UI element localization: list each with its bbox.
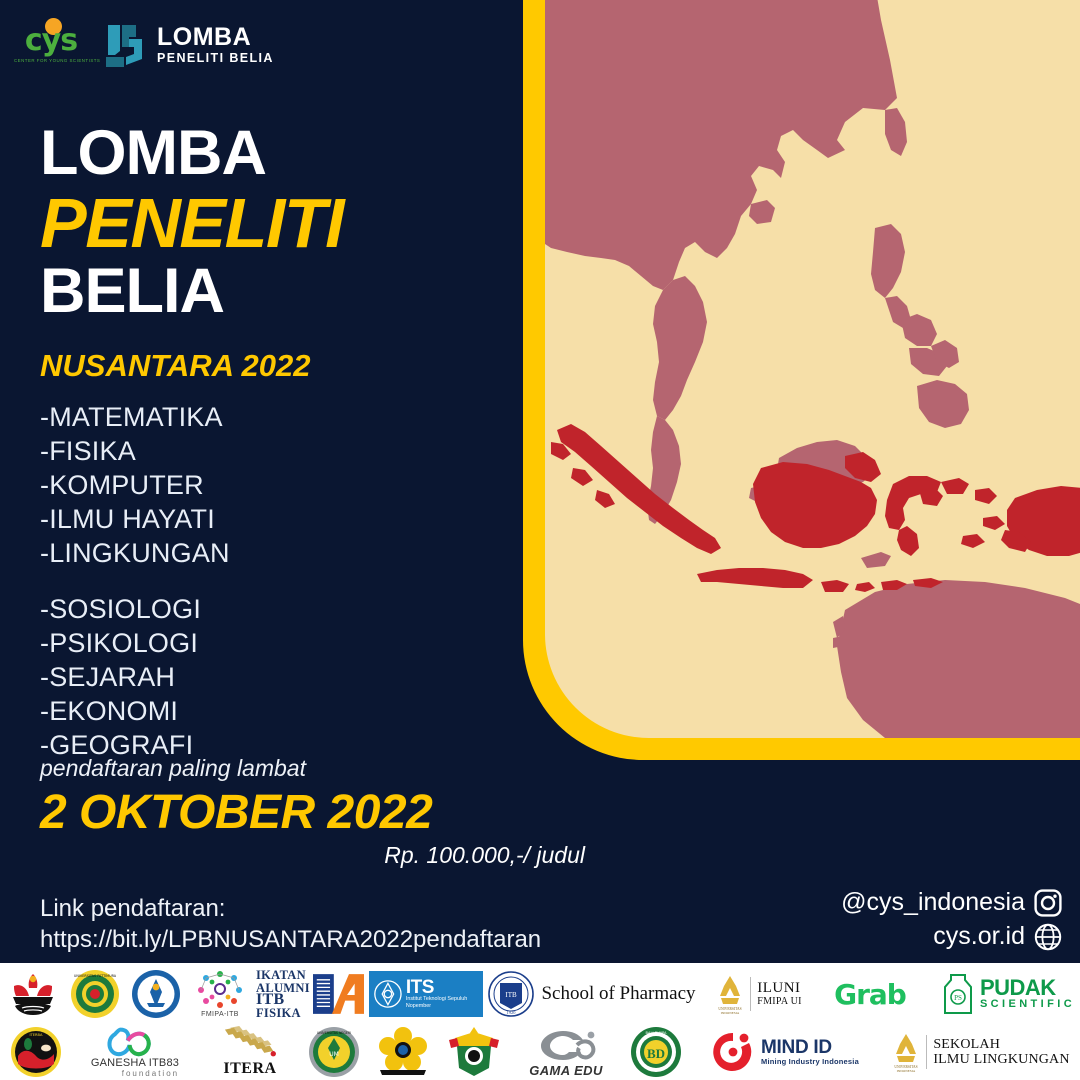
sponsor-school-of-pharmacy-label: School of Pharmacy xyxy=(541,983,695,1005)
subject-group-science: -MATEMATIKA -FISIKA -KOMPUTER -ILMU HAYA… xyxy=(40,400,230,570)
list-item: -MATEMATIKA xyxy=(40,400,230,434)
svg-text:1920: 1920 xyxy=(507,1010,517,1015)
svg-text:PS: PS xyxy=(954,994,962,1002)
registration-url[interactable]: https://bit.ly/LPBNUSANTARA2022pendaftar… xyxy=(40,924,541,955)
registration-label: Link pendaftaran: xyxy=(40,893,541,924)
page-title: LOMBA PENELITI BELIA NUSANTARA 2022 xyxy=(40,118,343,384)
sponsor-mind-id-text: MIND ID Mining Industry Indonesia xyxy=(761,1039,859,1066)
instagram-handle: @cys_indonesia xyxy=(841,888,1025,917)
instagram-icon[interactable] xyxy=(1034,889,1062,917)
map-inner xyxy=(545,0,1080,738)
registration-fee: Rp. 100.000,-/ judul xyxy=(40,842,585,869)
sponsor-its: ITS Institut Teknologi Sepuluh Nopember xyxy=(369,971,483,1017)
lpb-line-2: PENELITI BELIA xyxy=(157,52,274,65)
globe-icon[interactable] xyxy=(1034,923,1062,951)
sponsor-universitas-pattimura: UNIVERSITAS PATTIMURA xyxy=(67,968,123,1020)
list-item: -EKONOMI xyxy=(40,694,230,728)
deadline-prefix: pendaftaran paling lambat xyxy=(40,755,600,782)
list-item: -SOSIOLOGI xyxy=(40,592,230,626)
sponsor-kemdikbud xyxy=(4,968,62,1020)
left-content-column: cys CENTER FOR YOUNG SCIENTISTS LOMBA PE… xyxy=(0,0,560,1080)
sponsor-ganesha-text: GANESHA ITB83 foundation xyxy=(91,1057,179,1078)
sponsor-pudak-text: PUDAK SCIENTIFIC xyxy=(980,978,1075,1010)
brand-bar: cys CENTER FOR YOUNG SCIENTISTS LOMBA PE… xyxy=(14,18,274,72)
svg-text:ITB: ITB xyxy=(506,991,518,999)
sponsor-bali-dwipa: BD BALI DWIPA xyxy=(625,1026,687,1078)
subject-lists: -MATEMATIKA -FISIKA -KOMPUTER -ILMU HAYA… xyxy=(40,400,230,762)
sponsor-itera: ITERA xyxy=(202,1026,298,1078)
map-panel xyxy=(523,0,1080,760)
sponsor-band: UNIVERSITAS PATTIMURA xyxy=(0,963,1080,1080)
sponsor-ikatan-text: IKATANALUMNIITBFISIKA xyxy=(256,969,310,1019)
sponsor-iluni-fmipa-ui: UNIVERSITAS INDONESIA ILUNI FMIPA UI xyxy=(701,968,817,1020)
sponsor-iluni-text: ILUNI FMIPA UI xyxy=(757,981,802,1007)
svg-text:UM: UM xyxy=(329,1051,339,1058)
sponsor-gama-edu: GAMA EDU xyxy=(512,1026,620,1078)
sponsor-itera-label: ITERA xyxy=(223,1060,276,1078)
cys-tagline: CENTER FOR YOUNG SCIENTISTS xyxy=(14,58,88,63)
sponsor-sekolah-ilmu-lingkungan-ui: UNIVERSITAS INDONESIA SEKOLAH ILMU LINGK… xyxy=(883,1026,1079,1078)
sponsor-row-1: UNIVERSITAS PATTIMURA xyxy=(0,965,1080,1023)
title-line-peneliti: PENELITI xyxy=(40,184,343,262)
list-item: -ILMU HAYATI xyxy=(40,502,230,536)
poster-canvas: cys CENTER FOR YOUNG SCIENTISTS LOMBA PE… xyxy=(0,0,1080,1080)
subject-group-social: -SOSIOLOGI -PSIKOLOGI -SEJARAH -EKONOMI … xyxy=(40,592,230,762)
svg-text:ITERBA: ITERBA xyxy=(30,1033,43,1037)
list-item: -LINGKUNGAN xyxy=(40,536,230,570)
sponsor-sekolah-text: SEKOLAH ILMU LINGKUNGAN xyxy=(933,1037,1069,1067)
sponsor-universitas-negeri-yogyakarta xyxy=(370,1026,436,1078)
svg-text:INDONESIA: INDONESIA xyxy=(897,1069,916,1073)
registration-link-block: Link pendaftaran: https://bit.ly/LPBNUSA… xyxy=(40,893,541,955)
lpb-wordmark: LOMBA PENELITI BELIA xyxy=(157,25,274,65)
website-url: cys.or.id xyxy=(933,922,1025,951)
list-item: -KOMPUTER xyxy=(40,468,230,502)
cys-logo-icon: cys CENTER FOR YOUNG SCIENTISTS xyxy=(14,18,88,72)
sponsor-gama-edu-label: GAMA EDU xyxy=(529,1063,603,1078)
title-subtitle: NUSANTARA 2022 xyxy=(40,348,343,384)
sponsor-mind-id: MIND ID Mining Industry Indonesia xyxy=(692,1026,878,1078)
sponsor-ganesha-itb83-foundation: GANESHA ITB83 foundation xyxy=(73,1026,197,1078)
list-item: -SEJARAH xyxy=(40,660,230,694)
svg-text:BALI DWIPA: BALI DWIPA xyxy=(646,1031,667,1035)
cys-wordmark: cys xyxy=(14,26,88,56)
deadline-block: pendaftaran paling lambat 2 OKTOBER 2022… xyxy=(40,755,600,869)
social-block: @cys_indonesia cys.or.id xyxy=(841,888,1062,956)
title-line-lomba: LOMBA xyxy=(40,118,343,188)
sponsor-fmipa-itb: FMIPA-ITB xyxy=(189,968,251,1020)
sponsor-university-seal-blue xyxy=(128,968,184,1020)
sponsor-pudak-scientific: PS PUDAK SCIENTIFIC xyxy=(923,968,1080,1020)
sponsor-row-2: ITERBA GANESHA ITB83 foundation xyxy=(0,1023,1080,1080)
lpb-logo: LOMBA PENELITI BELIA xyxy=(102,21,274,69)
list-item: -FISIKA xyxy=(40,434,230,468)
southeast-asia-map xyxy=(545,0,1080,738)
deadline-date: 2 OKTOBER 2022 xyxy=(40,786,600,840)
sponsor-divider xyxy=(750,977,751,1011)
list-item: -PSIKOLOGI xyxy=(40,626,230,660)
instagram-row[interactable]: @cys_indonesia xyxy=(841,888,1062,917)
lpb-mark-icon xyxy=(102,21,148,69)
svg-text:UNIVERSITAS PATTIMURA: UNIVERSITAS PATTIMURA xyxy=(74,974,117,978)
sponsor-universitas-negeri-malang: UM UNIVERSITAS NEGERI xyxy=(303,1026,365,1078)
svg-text:INDONESIA: INDONESIA xyxy=(721,1011,740,1015)
subject-group-spacer xyxy=(40,570,230,592)
title-line-belia: BELIA xyxy=(40,256,343,326)
sponsor-iterba: ITERBA xyxy=(4,1026,68,1078)
sponsor-grab: Grab xyxy=(822,968,918,1020)
svg-text:UNIVERSITAS NEGERI: UNIVERSITAS NEGERI xyxy=(317,1031,351,1035)
sponsor-university-crest-green xyxy=(441,1026,507,1078)
website-row[interactable]: cys.or.id xyxy=(841,922,1062,951)
sponsor-its-text: ITS Institut Teknologi Sepuluh Nopember xyxy=(406,979,478,1009)
sponsor-divider xyxy=(926,1035,927,1069)
sponsor-ikatan-alumni-itb-fisika: IKATANALUMNIITBFISIKA xyxy=(256,968,364,1020)
svg-text:BD: BD xyxy=(647,1046,665,1061)
sponsor-itb-school-of-pharmacy: ITB 1920 School of Pharmacy xyxy=(488,968,696,1020)
lpb-line-1: LOMBA xyxy=(157,25,274,50)
sponsor-fmipa-itb-label: FMIPA-ITB xyxy=(201,1011,239,1018)
